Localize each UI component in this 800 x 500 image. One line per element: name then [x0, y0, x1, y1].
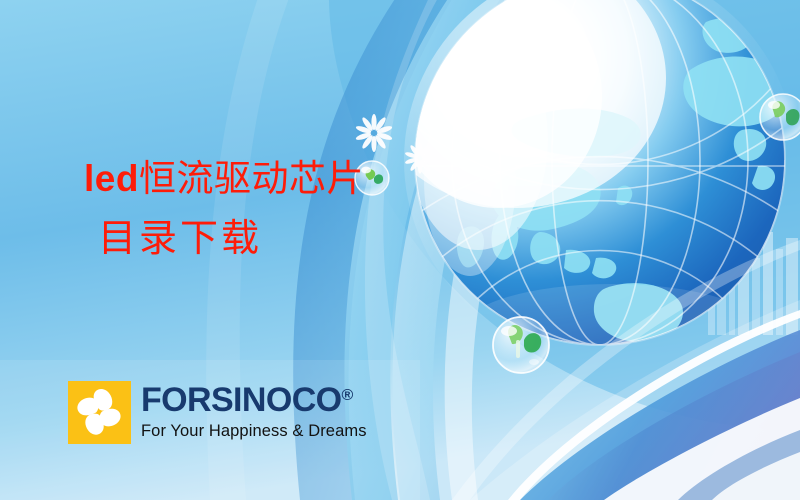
headline-block: led恒流驱动芯片 目录下载 — [84, 160, 364, 259]
registered-trademark-icon: ® — [342, 387, 354, 404]
company-logo-lockup[interactable]: FORSINOCO® For Your Happiness & Dreams — [68, 381, 367, 444]
bottom-swoosh-white-soft — [470, 300, 800, 500]
bottom-ribbon-deep — [548, 352, 800, 500]
city-skyline — [700, 216, 798, 335]
logo-tagline: For Your Happiness & Dreams — [141, 423, 367, 440]
flower-decoration-1 — [355, 114, 393, 152]
globe-landmasses — [457, 18, 788, 344]
headline-line-2: 目录下载 — [98, 219, 364, 259]
globe-crescent-glow — [365, 0, 455, 500]
headline-latin-prefix: led — [84, 158, 139, 199]
globe-meridians — [415, 0, 785, 345]
ribbon-curve-2 — [344, 0, 520, 500]
bottom-hairline-2 — [712, 452, 800, 500]
bottom-white-band — [604, 398, 800, 500]
bottom-ribbon-violet — [678, 430, 800, 500]
bubble-large-center — [493, 317, 549, 373]
logo-wordmark-text: FORSINOCO — [141, 381, 342, 419]
world-globe — [366, 0, 796, 376]
logo-wordmark: FORSINOCO® — [141, 383, 367, 417]
flower-decoration-2 — [404, 142, 435, 173]
headline-line-1: led恒流驱动芯片 — [84, 160, 364, 199]
logo-text-block: FORSINOCO® For Your Happiness & Dreams — [141, 381, 367, 440]
globe-sparkle-lines — [470, 36, 566, 100]
bubble-right-edge — [760, 94, 800, 140]
headline-cjk-suffix: 恒流驱动芯片 — [139, 157, 364, 200]
ribbon-curve-3 — [392, 0, 575, 500]
ribbon-curve-4 — [445, 0, 618, 500]
pinwheel-petals-icon — [68, 381, 131, 444]
bottom-hairline-3 — [452, 240, 800, 500]
bottom-ribbon-blue — [520, 330, 800, 500]
globe-parallels — [415, 86, 785, 306]
backdrop-swoosh — [329, 0, 800, 430]
bottom-hairline-1 — [508, 310, 800, 500]
banner-canvas: led恒流驱动芯片 目录下载 FORSINOCO® For Your Happi… — [0, 0, 800, 500]
